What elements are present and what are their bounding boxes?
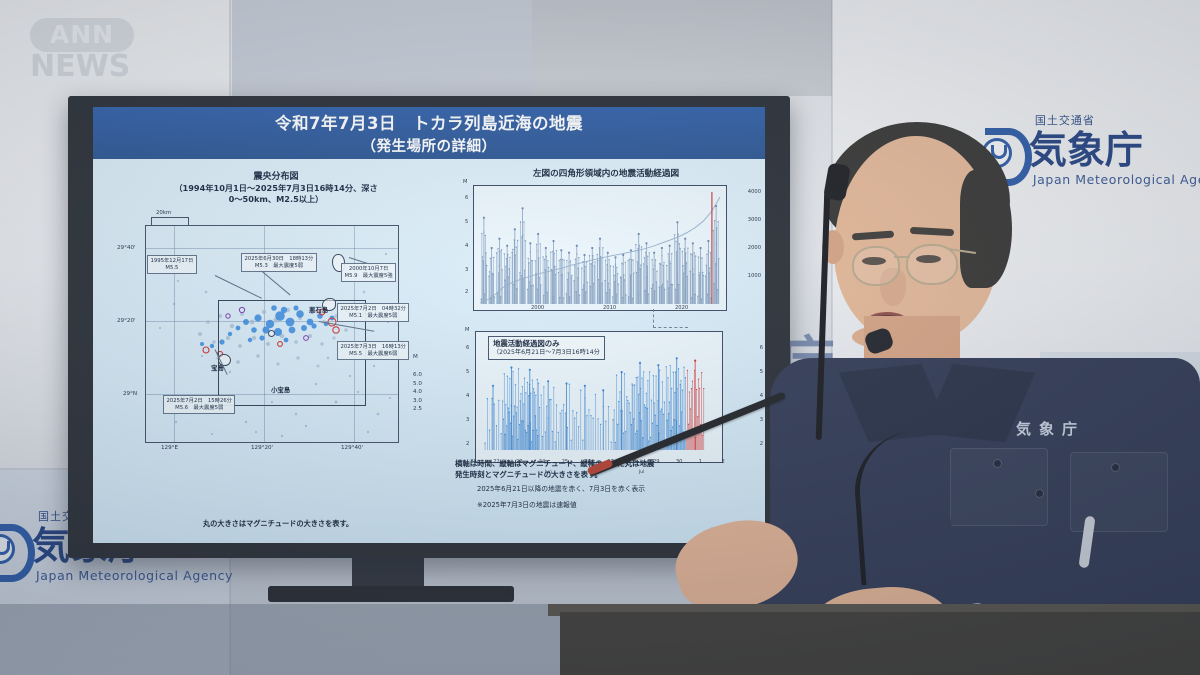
- broadcast-frame: ANN NEWS 国土交通省 気象庁 Japan Meteorological …: [0, 0, 1200, 675]
- vignette-overlay: [0, 0, 1200, 675]
